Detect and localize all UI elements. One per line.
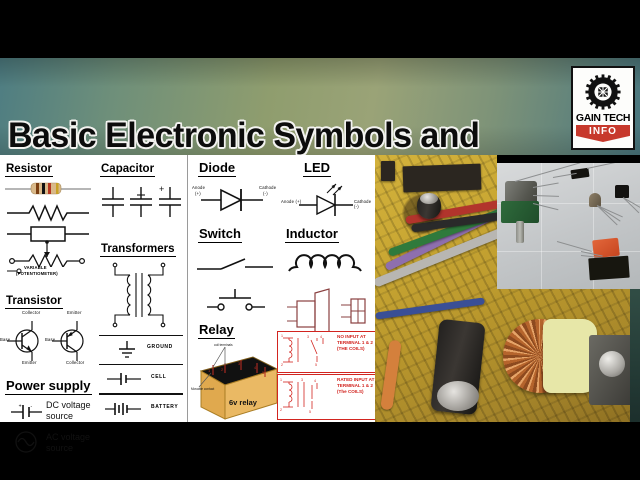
dc-source-label-1: DC voltage bbox=[46, 400, 91, 411]
transformers-heading: Transformers bbox=[100, 242, 176, 257]
led-heading: LED bbox=[303, 160, 331, 177]
section-power-supply: Power supply bbox=[0, 369, 95, 395]
variable-label-line2: (POTENTIOMETER) bbox=[16, 271, 58, 276]
ground-row: GROUND bbox=[95, 336, 187, 364]
logo-ribbon-label: INFO bbox=[589, 125, 617, 138]
transformer-symbol bbox=[95, 257, 187, 331]
panel-resistor-transistor-power: Resistor bbox=[0, 155, 95, 422]
pnp-emitter-label: Emitter bbox=[67, 310, 82, 315]
inductor-symbol bbox=[281, 243, 375, 287]
channel-logo: GAIN TECH INFO bbox=[571, 66, 635, 150]
section-transistor: Transistor bbox=[0, 285, 95, 309]
section-resistor: Resistor bbox=[0, 155, 95, 177]
svg-text:coil terminals: coil terminals bbox=[214, 343, 233, 347]
polarized-capacitor-plus: + bbox=[155, 183, 185, 219]
switch-symbols bbox=[189, 243, 281, 321]
section-diode: Diode bbox=[189, 155, 281, 177]
non-polarized-capacitor bbox=[100, 185, 126, 219]
ic-chip bbox=[403, 164, 482, 193]
variable-label-line1: VARIABLE bbox=[24, 265, 47, 270]
diode-anode-label: Anode bbox=[192, 185, 205, 190]
cell-label: CELL bbox=[151, 374, 166, 380]
inset-top-bar bbox=[497, 155, 640, 163]
video-thumbnail: Basic Electronic Symbols and Components.… bbox=[0, 0, 640, 480]
relay-state-no-input-text: NO INPUT AT TERMINAL 1 & 2 (THE COILS) bbox=[337, 334, 375, 353]
section-inductor: Inductor bbox=[281, 223, 375, 243]
diode-cathode-label: Cathode bbox=[259, 185, 276, 190]
inductor-heading: Inductor bbox=[285, 226, 339, 243]
transistor-component bbox=[615, 185, 629, 198]
diode-anode-sign: (+) bbox=[195, 191, 201, 196]
section-switch: Switch bbox=[189, 219, 281, 243]
supply-symbol-rows: GROUND CELL bbox=[95, 335, 187, 423]
ac-source-label-1: AC voltage bbox=[46, 432, 90, 443]
spst-switch-symbol bbox=[189, 251, 281, 277]
power-supply-heading: Power supply bbox=[5, 378, 92, 395]
screw-head bbox=[599, 351, 625, 377]
svg-text:5: 5 bbox=[309, 410, 311, 414]
svg-text:4: 4 bbox=[320, 335, 322, 339]
dc-source-label-2: source bbox=[46, 411, 91, 422]
led-anode-label: Anode (+) bbox=[281, 199, 301, 204]
small-component bbox=[381, 161, 395, 181]
svg-text:1: 1 bbox=[280, 378, 282, 382]
potentiometer-caption: VARIABLE (POTENTIOMETER) bbox=[0, 265, 95, 285]
relay-illustration: 6v relay coil terminals Movable contact … bbox=[189, 339, 281, 425]
capacitor-heading: Capacitor bbox=[100, 162, 155, 177]
transistor-symbols: Collector Base Emitter Emitter Base Coll… bbox=[0, 309, 95, 369]
resistor-symbols bbox=[0, 177, 95, 265]
electrolytic-capacitor-top bbox=[437, 381, 479, 411]
logo-name: GAIN TECH bbox=[573, 112, 633, 124]
dc-source-icon: + - bbox=[10, 402, 46, 422]
npn-emitter-label: Emitter bbox=[22, 360, 37, 365]
switch-heading: Switch bbox=[198, 226, 242, 243]
section-transformers: Transformers bbox=[95, 229, 187, 257]
resistor-heading: Resistor bbox=[5, 162, 53, 177]
npn-collector-label: Collector bbox=[22, 310, 40, 315]
svg-text:4: 4 bbox=[314, 379, 316, 383]
ground-icon bbox=[109, 339, 145, 361]
battery-row: BATTERY bbox=[95, 395, 187, 423]
transistor-heading: Transistor bbox=[5, 294, 63, 309]
svg-text:5: 5 bbox=[315, 363, 317, 367]
pnp-base-label: Base bbox=[45, 337, 55, 342]
svg-text:+: + bbox=[19, 404, 22, 410]
relay-state-rated-input-text: RATED INPUT AT TERMINAL 1 & 2 (The COILS… bbox=[337, 377, 375, 396]
ac-source-icon bbox=[12, 430, 48, 454]
panel-diode-switch-relay: Diode Anode (+) Cathode (-) Switch bbox=[189, 155, 281, 422]
title-banner: Basic Electronic Symbols and Components.… bbox=[0, 58, 640, 155]
diode-cathode-sign: (-) bbox=[263, 191, 268, 196]
led-symbol: Anode (+) Cathode (-) bbox=[281, 177, 375, 223]
logo-ribbon: INFO bbox=[576, 125, 630, 142]
svg-text:1: 1 bbox=[281, 334, 283, 338]
pnp-collector-label: Collector bbox=[66, 360, 84, 365]
diode-heading: Diode bbox=[198, 160, 236, 177]
svg-text:2: 2 bbox=[281, 363, 283, 367]
pcb-photograph bbox=[375, 155, 640, 422]
section-relay: Relay bbox=[189, 321, 281, 339]
relay-state-rated-input: 12 345 RATED INPUT AT TERMINAL 1 & 2 (Th… bbox=[277, 374, 377, 420]
gear-icon bbox=[573, 71, 633, 113]
relay-state-no-input: 12 345 NO INPUT AT TERMINAL 1 & 2 (THE C… bbox=[277, 331, 377, 373]
cell-icon bbox=[105, 369, 145, 389]
section-capacitor: Capacitor bbox=[95, 155, 187, 177]
svg-text:Movable contact: Movable contact bbox=[191, 387, 214, 391]
loose-components-photograph bbox=[497, 163, 640, 289]
svg-text:6v relay: 6v relay bbox=[229, 398, 258, 407]
section-led: LED bbox=[281, 155, 375, 177]
svg-text:+: + bbox=[159, 184, 164, 194]
zigzag-resistor-symbol bbox=[3, 201, 93, 223]
svg-text:2: 2 bbox=[280, 408, 282, 412]
panel-capacitor-transformer: Capacitor + bbox=[95, 155, 188, 422]
symbols-board: Resistor bbox=[0, 155, 640, 422]
diode-symbol: Anode (+) Cathode (-) bbox=[189, 177, 281, 219]
svg-text:3: 3 bbox=[301, 378, 303, 382]
npn-base-label: Base bbox=[0, 337, 10, 342]
title-line-1: Basic Electronic Symbols and bbox=[8, 118, 551, 153]
cell-row: CELL bbox=[95, 365, 187, 393]
transistor-to92 bbox=[589, 193, 601, 207]
capacitor-top bbox=[420, 193, 438, 204]
potentiometer-symbol bbox=[3, 239, 93, 267]
potentiometer-shaft bbox=[516, 221, 524, 243]
polarized-capacitor bbox=[128, 185, 154, 219]
battery-label: BATTERY bbox=[151, 404, 178, 410]
led-cathode-label: Cathode (-) bbox=[354, 199, 375, 209]
resistor-photo bbox=[3, 181, 93, 197]
ac-source-row: AC voltage source bbox=[0, 430, 95, 460]
svg-text:-: - bbox=[31, 404, 33, 410]
dc-source-row: + - DC voltage source bbox=[0, 400, 95, 430]
ac-source-label-2: source bbox=[46, 443, 90, 454]
relay-heading: Relay bbox=[198, 322, 235, 339]
connector-component bbox=[588, 256, 629, 281]
ground-label: GROUND bbox=[147, 344, 173, 350]
battery-icon bbox=[103, 399, 147, 419]
svg-text:3: 3 bbox=[307, 335, 309, 339]
push-button-switch-symbol bbox=[189, 285, 281, 317]
capacitor-symbols: + bbox=[95, 177, 187, 229]
